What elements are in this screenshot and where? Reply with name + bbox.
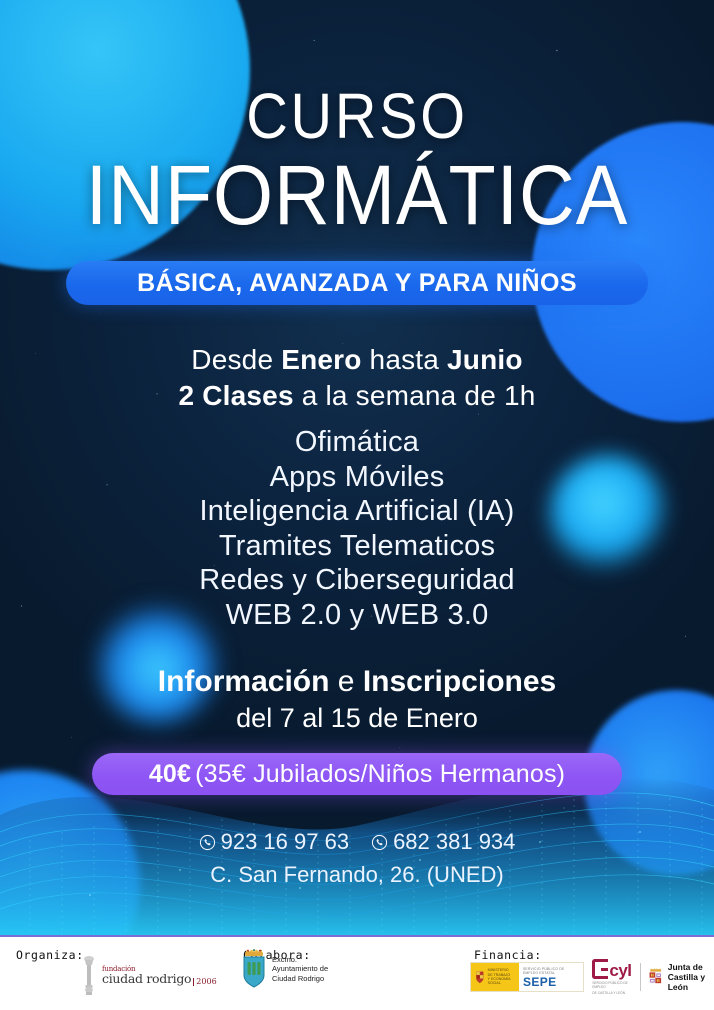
schedule-frequency: a la semana de 1h (294, 380, 536, 411)
ayuntamiento-line-2: Ayuntamiento de (272, 964, 328, 974)
price-detail: (35€ Jubilados/Niños Hermanos) (195, 760, 565, 789)
column-tower-icon (78, 955, 100, 997)
subtitle-pill: BÁSICA, AVANZADA Y PARA NIÑOS (66, 261, 648, 305)
contact-phones: 923 16 97 63 682 381 934 (0, 829, 714, 855)
info-dates: del 7 al 15 de Enero (0, 703, 714, 734)
ecyl-logo: cyl SERVICIO PÚBLICO DE EMPLEO DE CASTIL… (592, 959, 631, 995)
phone-number-1: 923 16 97 63 (221, 829, 349, 855)
junta-line-2: Castilla y León (668, 972, 714, 992)
phone-number-2: 682 381 934 (393, 829, 515, 855)
junta-castilla-leon-logo: Junta de Castilla y León (648, 962, 714, 992)
contact-address: C. San Fernando, 26. (UNED) (0, 862, 714, 888)
sepe-tiny-line: SERVICIO PÚBLICO DE EMPLEO ESTATAL (523, 967, 579, 975)
schedule-line-2: 2 Clases a la semana de 1h (0, 380, 714, 412)
junta-line-1: Junta de (668, 962, 714, 972)
phone-entry-2[interactable]: 682 381 934 (371, 829, 515, 855)
junta-emblem-icon (648, 966, 663, 988)
schedule-mid: hasta (362, 344, 447, 375)
financia-logo-row: MINISTERIO DE TRABAJO Y ECONOMÍA SOCIAL … (470, 959, 714, 995)
schedule-line-1: Desde Enero hasta Junio (0, 344, 714, 376)
info-heading-conjunction: e (329, 665, 362, 698)
title-curso: CURSO (36, 84, 679, 148)
ecyl-subtitle-line-2: DE CASTILLA Y LEÓN (592, 991, 631, 995)
course-topic: Tramites Telematicos (0, 529, 714, 564)
ecyl-wordmark: cyl (609, 962, 631, 979)
ayuntamiento-line-1: Excmo. (272, 955, 328, 965)
coat-of-arms-shield-icon (241, 949, 267, 989)
spain-coat-of-arms-icon (475, 968, 485, 986)
subtitle-pill-label: BÁSICA, AVANZADA Y PARA NIÑOS (137, 269, 577, 298)
ecyl-e-mark-icon (592, 959, 608, 979)
phone-circle-icon (199, 834, 216, 851)
info-heading-informacion: Información (158, 665, 330, 698)
fundacion-ciudad-rodrigo-logo: fundación ciudad rodrigo 2006 (78, 955, 217, 997)
phone-entry-1[interactable]: 923 16 97 63 (199, 829, 349, 855)
schedule-month-end: Junio (447, 344, 523, 375)
sponsors-footer: Organiza: fundación ciudad rodrigo (0, 935, 714, 1010)
course-topic: Redes y Ciberseguridad (0, 563, 714, 598)
course-topics-list: Ofimática Apps Móviles Inteligencia Arti… (0, 425, 714, 632)
ayuntamiento-ciudad-rodrigo-logo: Excmo. Ayuntamiento de Ciudad Rodrigo (241, 949, 328, 989)
info-heading-inscripciones: Inscripciones (363, 665, 556, 698)
info-heading: Información e Inscripciones (0, 665, 714, 699)
ecyl-subtitle-line-1: SERVICIO PÚBLICO DE EMPLEO (592, 981, 631, 989)
footer-organiza-column: Organiza: fundación ciudad rodrigo (0, 937, 235, 1010)
sepe-wordmark: SEPE (523, 976, 579, 988)
fundacion-year: 2006 (193, 978, 216, 986)
schedule-prefix: Desde (191, 344, 281, 375)
course-topic: Inteligencia Artificial (IA) (0, 494, 714, 529)
price-pill: 40€(35€ Jubilados/Niños Hermanos) (92, 753, 622, 795)
footer-logo-divider (640, 963, 641, 991)
sepe-ministry-line-3: Y ECONOMÍA SOCIAL (488, 977, 515, 986)
phone-circle-icon (371, 834, 388, 851)
ayuntamiento-line-3: Ciudad Rodrigo (272, 974, 328, 984)
poster-content: CURSO INFORMÁTICA BÁSICA, AVANZADA Y PAR… (0, 0, 714, 935)
schedule-classes-count: 2 Clases (178, 380, 293, 411)
course-topic: WEB 2.0 y WEB 3.0 (0, 598, 714, 633)
footer-colabora-column: Colabora: (235, 937, 470, 1010)
price-amount: 40€ (149, 760, 191, 789)
sepe-logo: MINISTERIO DE TRABAJO Y ECONOMÍA SOCIAL … (470, 962, 584, 992)
title-informatica: INFORMÁTICA (29, 153, 686, 237)
footer-organiza-label: Organiza: (16, 948, 84, 962)
schedule-month-start: Enero (281, 344, 361, 375)
poster-canvas: CURSO INFORMÁTICA BÁSICA, AVANZADA Y PAR… (0, 0, 714, 1010)
footer-financia-column: Financia: MINISTERIO (470, 937, 714, 1010)
fundacion-main-word: ciudad rodrigo (102, 973, 191, 986)
course-topic: Ofimática (0, 425, 714, 460)
course-topic: Apps Móviles (0, 460, 714, 495)
